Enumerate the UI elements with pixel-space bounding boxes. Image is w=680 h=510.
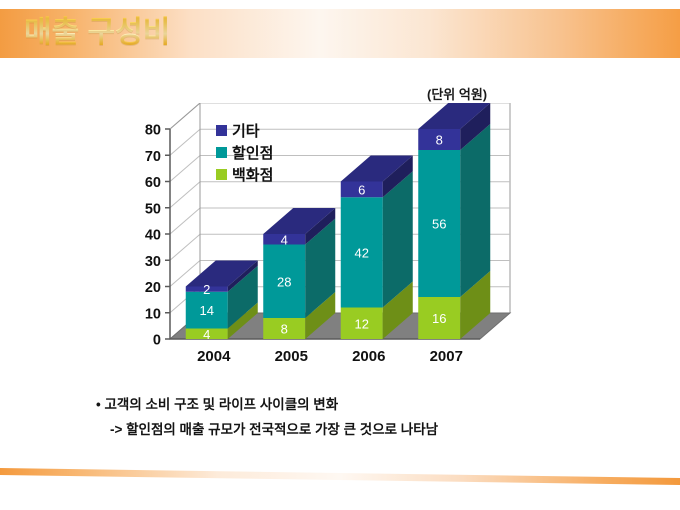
x-category-label: 2005 [275,348,308,365]
bar-data-label: 4 [203,327,210,342]
sales-composition-chart: 0102030405060708041422004828420051242620… [108,103,528,365]
slide-canvas: 매출 구성비 (단위 억원) 0102030405060708041422004… [0,0,680,510]
bar-data-label: 2 [203,282,210,297]
y-tick-label: 20 [145,280,161,296]
bullet-item-0: • 고객의 소비 구조 및 라이프 사이클의 변화 [96,392,656,417]
legend-label[interactable]: 기타 [232,123,260,140]
bar-data-label: 42 [355,245,369,260]
bullet-list: • 고객의 소비 구조 및 라이프 사이클의 변화 -> 할인점의 매출 규모가… [96,392,656,442]
chart-unit-label: (단위 억원) [427,84,487,103]
axis-depth-line [170,234,200,260]
bar-group: 12426 [341,156,413,340]
y-tick-label: 50 [145,201,161,217]
header-top-margin [0,0,680,9]
x-category-label: 2006 [352,348,385,365]
bar-data-label: 16 [432,311,446,326]
bar-data-label: 28 [277,274,291,289]
bar-data-label: 14 [200,303,214,318]
y-tick-label: 60 [145,175,161,191]
axis-depth-line [170,156,200,182]
axis-depth-line [170,208,200,234]
bar-data-label: 4 [281,232,288,247]
legend-swatch[interactable] [216,169,227,180]
bar-data-label: 8 [436,133,443,148]
bar-data-label: 12 [355,316,369,331]
legend-swatch[interactable] [216,147,227,158]
axis-depth-line [170,182,200,208]
bar-group: 8284 [263,208,335,339]
legend-swatch[interactable] [216,125,227,136]
footer-stripe-svg [0,462,680,492]
bar-segment-side [460,124,490,297]
legend-label[interactable]: 백화점 [232,166,273,184]
y-tick-label: 40 [145,228,161,244]
bullet-item-1: -> 할인점의 매출 규모가 전국적으로 가장 큰 것으로 나타남 [96,417,656,442]
chart-svg: 0102030405060708041422004828420051242620… [108,103,528,365]
y-tick-label: 10 [145,306,161,322]
bar-data-label: 56 [432,217,446,232]
footer-stripe [0,462,680,492]
y-tick-label: 70 [145,149,161,165]
x-category-label: 2007 [430,348,463,365]
y-tick-label: 0 [153,333,161,349]
axis-depth-line [170,129,200,155]
bar-data-label: 6 [358,182,365,197]
y-tick-label: 80 [145,123,161,139]
y-tick-label: 30 [145,254,161,270]
x-category-label: 2004 [197,348,231,365]
bar-group: 16568 [418,103,490,339]
bar-data-label: 8 [281,322,288,337]
page-title: 매출 구성비 [24,13,170,53]
legend-label[interactable]: 할인점 [232,144,273,162]
